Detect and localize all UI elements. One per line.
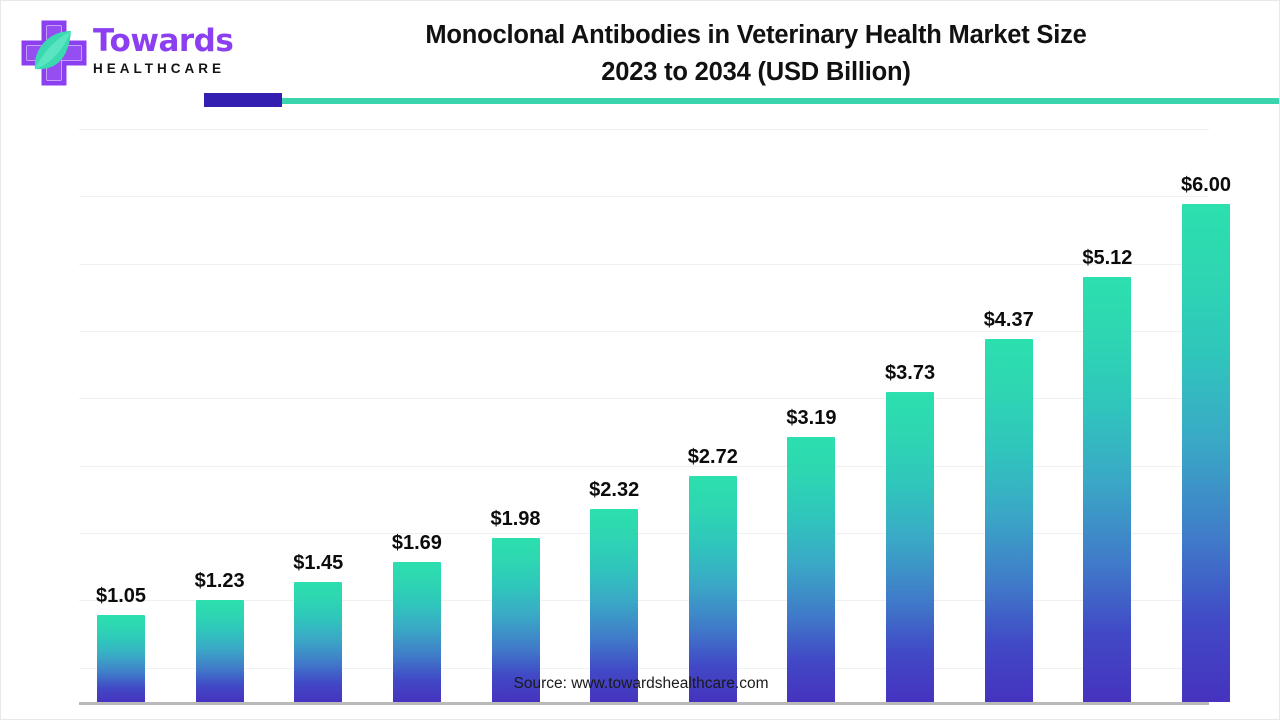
bar-2032[interactable] <box>985 339 1033 702</box>
chart-title-line-1: Monoclonal Antibodies in Veterinary Heal… <box>271 17 1241 54</box>
bar-2034[interactable] <box>1182 204 1230 702</box>
header-divider-accent <box>204 93 282 107</box>
brand-logo: Towards HEALTHCARE <box>19 17 249 93</box>
bar-value-label-2028: $2.32 <box>559 479 669 502</box>
bar-value-label-2023: $1.05 <box>66 585 176 608</box>
medical-cross-leaf-icon <box>19 19 89 89</box>
gridline <box>79 466 1209 467</box>
brand-subtitle: HEALTHCARE <box>93 60 253 78</box>
bar-2029[interactable] <box>689 476 737 702</box>
chart-title-line-2: 2023 to 2034 (USD Billion) <box>271 54 1241 91</box>
bar-value-label-2026: $1.69 <box>362 532 472 555</box>
source-caption: Source: www.towardshealthcare.com <box>1 675 1280 693</box>
plot-area: $1.05$1.23$1.45$1.69$1.98$2.32$2.72$3.19… <box>79 111 1209 596</box>
bar-value-label-2029: $2.72 <box>658 446 768 469</box>
x-axis-line <box>79 702 1209 705</box>
gridline <box>79 398 1209 399</box>
bar-value-label-2027: $1.98 <box>461 508 571 531</box>
chart-canvas: Towards HEALTHCARE Monoclonal Antibodies… <box>0 0 1280 720</box>
bar-value-label-2031: $3.73 <box>855 362 965 385</box>
gridline <box>79 264 1209 265</box>
gridline <box>79 668 1209 669</box>
bar-value-label-2033: $5.12 <box>1052 247 1162 270</box>
header-divider-line <box>204 98 1280 104</box>
bar-2033[interactable] <box>1083 277 1131 702</box>
bar-value-label-2034: $6.00 <box>1151 174 1261 197</box>
bar-2028[interactable] <box>590 509 638 702</box>
brand-wordmark: Towards HEALTHCARE <box>93 23 253 78</box>
bar-2030[interactable] <box>787 437 835 702</box>
gridline <box>79 129 1209 130</box>
brand-name: Towards <box>93 23 253 59</box>
gridline <box>79 196 1209 197</box>
bar-value-label-2030: $3.19 <box>756 407 866 430</box>
gridline <box>79 533 1209 534</box>
bar-value-label-2032: $4.37 <box>954 309 1064 332</box>
bar-value-label-2024: $1.23 <box>165 570 275 593</box>
chart-title: Monoclonal Antibodies in Veterinary Heal… <box>271 17 1241 91</box>
bar-value-label-2025: $1.45 <box>263 552 373 575</box>
bar-2031[interactable] <box>886 392 934 702</box>
gridline <box>79 600 1209 601</box>
